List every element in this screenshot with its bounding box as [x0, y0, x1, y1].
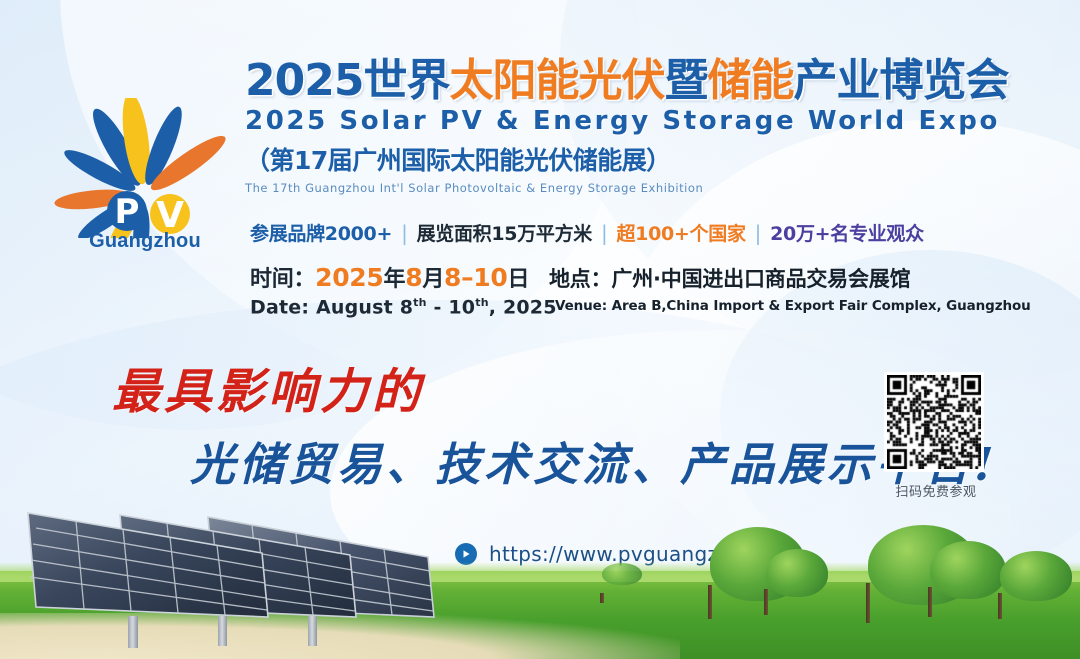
date-english: Date: August 8th - 10th, 2025 — [250, 296, 557, 318]
expo-poster: P V Guangzhou 2025世界太阳能光伏暨储能产业博览会 2025 S… — [0, 0, 1080, 659]
slogan-line-2: 光储贸易、技术交流、产品展示平台! — [190, 428, 880, 493]
logo-p-letter: P — [115, 192, 140, 232]
headline-block: 2025世界太阳能光伏暨储能产业博览会 2025 Solar PV & Ener… — [245, 58, 1035, 195]
stat-item-visitors: 20万+名专业观众 — [770, 219, 924, 246]
stat-item-countries: 超100+个国家 — [616, 219, 745, 246]
pv-guangzhou-logo: P V Guangzhou — [52, 98, 232, 273]
logo-wordmark: Guangzhou — [60, 230, 230, 253]
date-en-sup1: th — [413, 296, 427, 309]
venue-chinese: 地点：广州·中国进出口商品交易会展馆 — [549, 263, 1031, 293]
title-part-3: 暨 — [664, 55, 707, 106]
title-part-1: 2025世界 — [245, 55, 449, 106]
stat-separator-2: | — [601, 221, 607, 245]
stat-item-brands: 参展品牌2000+ — [250, 219, 392, 246]
stat-separator-3: | — [755, 221, 761, 245]
date-label: 时间： — [250, 267, 315, 292]
date-days: 8–10 — [444, 263, 508, 292]
title-chinese: 2025世界太阳能光伏暨储能产业博览会 — [245, 58, 1035, 103]
date-year-unit: 年 — [384, 267, 406, 292]
stat-item-area: 展览面积15万平方米 — [417, 219, 592, 246]
venue-name-cn: 广州·中国进出口商品交易会展馆 — [611, 267, 910, 291]
subtitle-english: The 17th Guangzhou Int'l Solar Photovolt… — [245, 181, 1035, 195]
stats-strip: 参展品牌2000+ | 展览面积15万平方米 | 超100+个国家 | 20万+… — [250, 219, 924, 246]
stat-separator-1: | — [401, 221, 407, 245]
date-year: 2025 — [315, 263, 383, 292]
title-part-4: 储能 — [707, 55, 793, 106]
date-en-prefix: Date: August — [250, 296, 400, 318]
date-day-unit: 日 — [508, 267, 530, 292]
date-month: 8 — [405, 263, 422, 292]
venue-block: 地点：广州·中国进出口商品交易会展馆 Venue: Area B,China I… — [549, 263, 1031, 314]
qr-block[interactable]: 扫码免费参观 — [884, 372, 988, 500]
date-month-unit: 月 — [422, 267, 444, 292]
subtitle-chinese: （第17届广州国际太阳能光伏储能展） — [245, 141, 1035, 177]
slogan-block: 最具影响力的 光储贸易、技术交流、产品展示平台! — [0, 352, 880, 493]
sunburst-icon: P V — [52, 98, 232, 238]
date-en-sup2: th — [475, 296, 489, 309]
venue-english: Venue: Area B,China Import & Export Fair… — [555, 298, 1031, 314]
title-part-5: 产业博览会 — [793, 55, 1008, 106]
slogan-line-1: 最具影响力的 — [112, 352, 880, 422]
solar-panel-array — [10, 499, 480, 649]
date-chinese: 时间：2025年8月8–10日 — [250, 262, 557, 294]
venue-label: 地点： — [549, 267, 611, 291]
date-en-day2: 10 — [448, 296, 475, 318]
date-block: 时间：2025年8月8–10日 Date: August 8th - 10th,… — [250, 262, 557, 318]
date-en-mid: - — [427, 296, 449, 318]
date-en-day1: 8 — [400, 296, 413, 318]
date-en-suffix: , 2025 — [489, 296, 557, 318]
qr-code-icon[interactable] — [884, 372, 984, 472]
title-english: 2025 Solar PV & Energy Storage World Exp… — [245, 106, 1035, 136]
qr-caption: 扫码免费参观 — [884, 481, 988, 500]
title-part-2: 太阳能光伏 — [449, 55, 664, 106]
